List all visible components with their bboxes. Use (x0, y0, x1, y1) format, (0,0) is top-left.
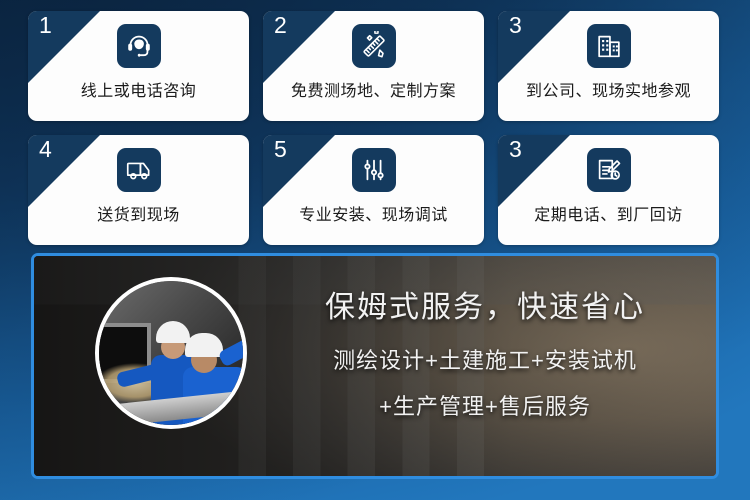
sliders-icon (352, 148, 396, 192)
step-number: 3 (509, 14, 522, 37)
banner-title: 保姆式服务，快速省心 (270, 282, 700, 326)
service-step-card-2[interactable]: 2 免费测场地、定制方案 (263, 11, 484, 121)
service-step-card-6[interactable]: 3 定期电话、到厂回访 (498, 135, 719, 245)
service-step-card-1[interactable]: 1 线上或电话咨询 (28, 11, 249, 121)
building-icon (587, 24, 631, 68)
step-number: 4 (39, 138, 52, 161)
headset-icon (117, 24, 161, 68)
banner-subtitle-line-1: 测绘设计+土建施工+安装试机 (270, 343, 700, 375)
promo-page: 1 线上或电话咨询 2 (0, 0, 750, 500)
banner-text-block: 保姆式服务，快速省心 测绘设计+土建施工+安装试机 +生产管理+售后服务 (270, 282, 700, 421)
step-number: 2 (274, 14, 287, 37)
ruler-pencil-icon (352, 24, 396, 68)
truck-icon (117, 148, 161, 192)
step-label: 送货到现场 (97, 201, 180, 225)
service-step-card-4[interactable]: 4 送货到现场 (28, 135, 249, 245)
service-promo-banner[interactable]: 保姆式服务，快速省心 测绘设计+土建施工+安装试机 +生产管理+售后服务 (31, 253, 719, 479)
step-number: 3 (509, 138, 522, 161)
workers-circle-photo (95, 277, 247, 429)
document-pen-clock-icon (587, 148, 631, 192)
service-step-card-5[interactable]: 5 专业安装、现场调试 (263, 135, 484, 245)
step-number: 5 (274, 138, 287, 161)
service-step-card-3[interactable]: 3 到公司、现场实地参观 (498, 11, 719, 121)
step-number: 1 (39, 14, 52, 37)
service-steps-grid: 1 线上或电话咨询 2 (28, 11, 722, 245)
banner-subtitle-line-2: +生产管理+售后服务 (270, 389, 700, 421)
banner-content: 保姆式服务，快速省心 测绘设计+土建施工+安装试机 +生产管理+售后服务 (34, 256, 716, 476)
hard-hat (185, 333, 223, 357)
